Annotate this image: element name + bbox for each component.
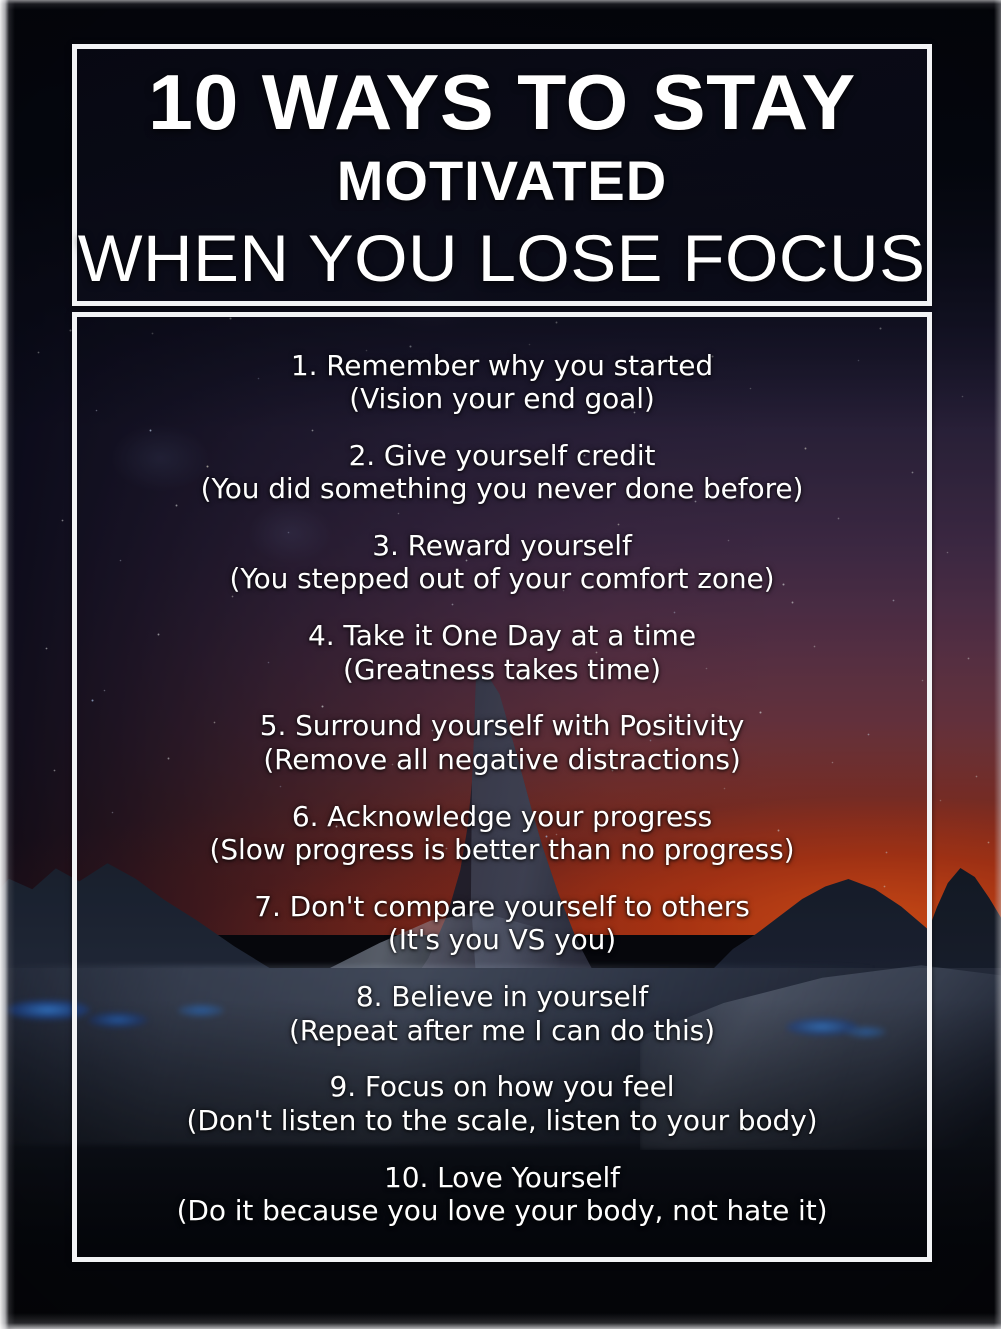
title-frame-backdrop xyxy=(77,49,927,301)
title-frame xyxy=(72,44,932,306)
motivational-poster: 10 WAYS TO STAY MOTIVATED WHEN YOU LOSE … xyxy=(0,0,1001,1329)
tips-frame xyxy=(72,312,932,1262)
